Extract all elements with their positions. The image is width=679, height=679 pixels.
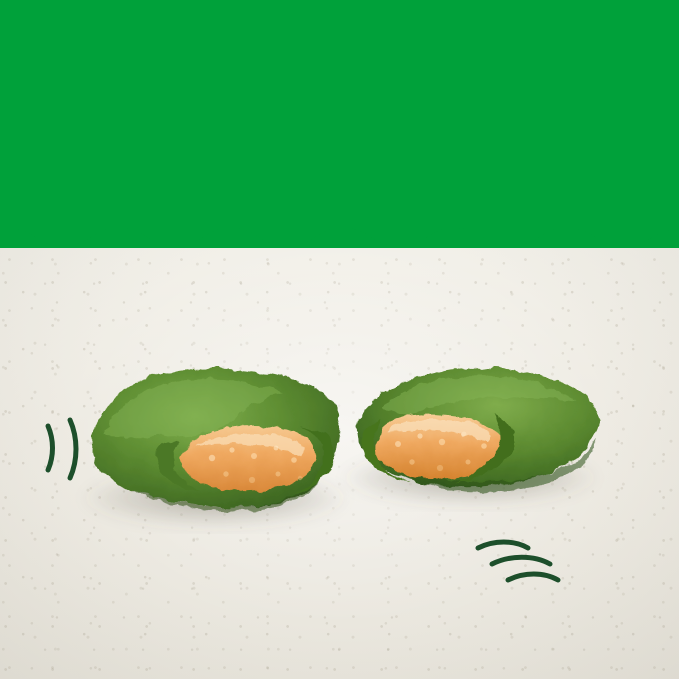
- motion-lines-right-icon: [478, 542, 558, 580]
- motion-lines-left-icon: [48, 420, 76, 478]
- product-poster: IRRESISTIBLY TASTY. Essential Health Ben…: [0, 0, 679, 679]
- product-photo: [0, 230, 679, 679]
- product-illustration-icon: [0, 230, 679, 679]
